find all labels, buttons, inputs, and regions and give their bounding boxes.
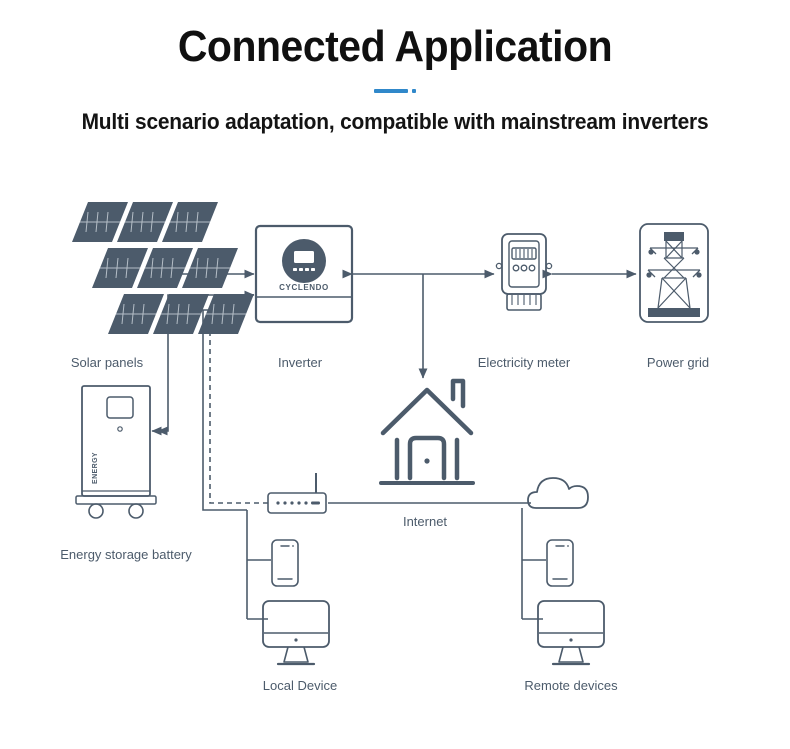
caption-solar-panels: Solar panels	[71, 355, 144, 370]
page-subtitle: Multi scenario adaptation, compatible wi…	[20, 109, 771, 135]
connected-application-diagram: CYCLENDO	[0, 178, 790, 738]
caption-remote-devices: Remote devices	[524, 678, 618, 693]
caption-inverter: Inverter	[278, 355, 323, 370]
local-device-phone-icon	[272, 540, 298, 586]
caption-electricity-meter: Electricity meter	[478, 355, 571, 370]
title-divider	[0, 85, 790, 97]
remote-device-phone-icon	[547, 540, 573, 586]
inverter-brand-label: CYCLENDO	[279, 283, 329, 292]
battery-brand-label: ENERGY	[92, 452, 99, 484]
divider-dot	[412, 89, 416, 93]
page-header: Connected Application Multi scenario ada…	[0, 0, 790, 135]
electricity-meter-icon	[496, 234, 551, 310]
caption-internet: Internet	[403, 514, 447, 529]
page-title: Connected Application	[28, 22, 763, 71]
caption-power-grid: Power grid	[647, 355, 709, 370]
divider-bar	[374, 89, 408, 93]
inverter-icon: CYCLENDO	[256, 226, 352, 322]
router-icon	[268, 473, 326, 513]
house-icon	[381, 381, 473, 483]
link-inverter-to-router-dashed	[210, 317, 268, 503]
transmission-tower-icon	[640, 224, 708, 322]
battery-cabinet-icon: ENERGY	[76, 386, 156, 518]
local-device-monitor-icon	[263, 601, 329, 664]
link-cloud-to-remote-devices	[522, 508, 546, 619]
cloud-icon	[528, 478, 588, 508]
caption-energy-storage-battery: Energy storage battery	[60, 547, 192, 562]
link-router-to-local-devices	[247, 510, 271, 619]
caption-local-device: Local Device	[263, 678, 337, 693]
remote-device-monitor-icon	[538, 601, 604, 664]
solar-panel-array-icon	[72, 202, 254, 334]
